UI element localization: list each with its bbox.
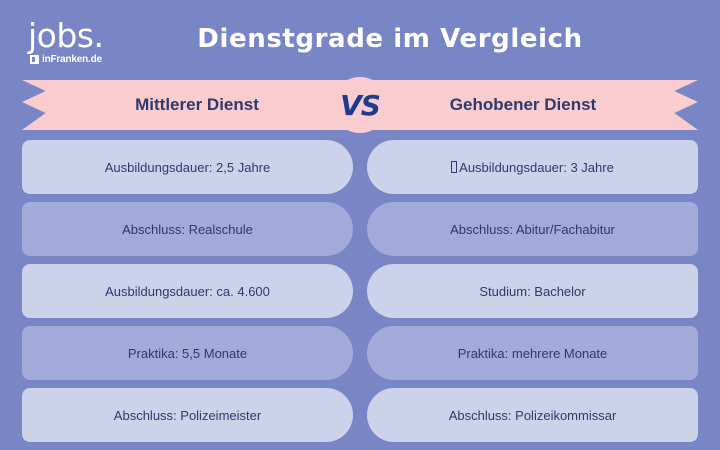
list-item: Ausbildungsdauer: ca. 4.600 [22,264,353,318]
list-item: Studium: Bachelor [367,264,698,318]
list-item: Praktika: 5,5 Monate [22,326,353,380]
list-item: Abschluss: Realschule [22,202,353,256]
column-heading-left: Mittlerer Dienst [62,80,332,130]
list-item: Abschluss: Polizeimeister [22,388,353,442]
list-item: Praktika: mehrere Monate [367,326,698,380]
list-item: Ausbildungsdauer: 3 Jahre [367,140,698,194]
list-item: Ausbildungsdauer: 2,5 Jahre [22,140,353,194]
list-item-label: Ausbildungsdauer: 3 Jahre [459,160,614,175]
logo-subtitle: inFranken.de [42,54,102,65]
building-icon [30,55,39,64]
comparison-column-left: Ausbildungsdauer: 2,5 Jahre Abschluss: R… [22,140,353,442]
vs-badge: VS [332,77,388,133]
list-item: Abschluss: Abitur/Fachabitur [367,202,698,256]
vs-label: VS [340,89,380,122]
comparison-header-ribbon: Mittlerer Dienst Gehobener Dienst VS [22,80,698,130]
comparison-grid: Ausbildungsdauer: 2,5 Jahre Abschluss: R… [22,140,698,442]
page-title: Dienstgrade im Vergleich [0,24,720,54]
logo-subtitle-row: inFranken.de [28,54,148,65]
comparison-column-right: Ausbildungsdauer: 3 Jahre Abschluss: Abi… [367,140,698,442]
list-item: Abschluss: Polizeikommissar [367,388,698,442]
missing-glyph-icon [451,161,457,173]
column-heading-right: Gehobener Dienst [388,80,658,130]
